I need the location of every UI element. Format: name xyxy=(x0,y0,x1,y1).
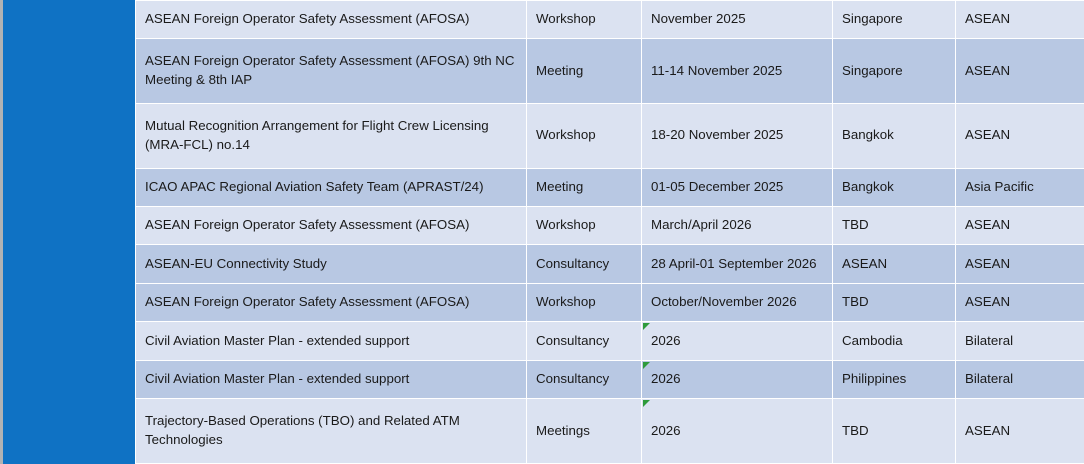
comment-flag-icon xyxy=(643,400,650,407)
cell-type: Consultancy xyxy=(527,245,642,283)
cell-activity: Civil Aviation Master Plan - extended su… xyxy=(136,322,527,360)
cell-text: November 2025 xyxy=(651,10,824,29)
cell-date: 11-14 November 2025 xyxy=(642,39,833,104)
left-blue-panel xyxy=(3,0,135,464)
cell-activity: ICAO APAC Regional Aviation Safety Team … xyxy=(136,168,527,206)
cell-activity: Trajectory-Based Operations (TBO) and Re… xyxy=(136,399,527,464)
cell-scope: ASEAN xyxy=(956,104,1084,169)
cell-text: Consultancy xyxy=(536,332,633,351)
cell-text: TBD xyxy=(842,422,947,441)
cell-text: Consultancy xyxy=(536,370,633,389)
cell-activity: Civil Aviation Master Plan - extended su… xyxy=(136,360,527,398)
cell-activity: ASEAN Foreign Operator Safety Assessment… xyxy=(136,39,527,104)
cell-venue: TBD xyxy=(833,283,956,321)
cell-text: ASEAN Foreign Operator Safety Assessment… xyxy=(145,293,518,312)
cell-text: Bangkok xyxy=(842,178,947,197)
table-row: Trajectory-Based Operations (TBO) and Re… xyxy=(136,399,1084,464)
cell-text: ASEAN xyxy=(965,422,1076,441)
cell-text: Bilateral xyxy=(965,332,1076,351)
cell-date: 18-20 November 2025 xyxy=(642,104,833,169)
cell-scope: Asia Pacific xyxy=(956,168,1084,206)
cell-activity: ASEAN Foreign Operator Safety Assessment… xyxy=(136,283,527,321)
cell-text: ASEAN xyxy=(965,62,1076,81)
cell-text: 01-05 December 2025 xyxy=(651,178,824,197)
cell-date: March/April 2026 xyxy=(642,207,833,245)
slide-canvas: ASEAN Foreign Operator Safety Assessment… xyxy=(0,0,1084,464)
cell-date: 2026 xyxy=(642,399,833,464)
cell-text: 2026 xyxy=(651,422,824,441)
cell-type: Workshop xyxy=(527,207,642,245)
table-row: Mutual Recognition Arrangement for Fligh… xyxy=(136,104,1084,169)
cell-text: ASEAN xyxy=(965,216,1076,235)
cell-venue: Singapore xyxy=(833,39,956,104)
comment-flag-icon xyxy=(643,323,650,330)
table-row: ASEAN Foreign Operator Safety Assessment… xyxy=(136,1,1084,39)
cell-date: 2026 xyxy=(642,360,833,398)
cell-type: Workshop xyxy=(527,1,642,39)
cell-venue: TBD xyxy=(833,399,956,464)
cell-activity: ASEAN Foreign Operator Safety Assessment… xyxy=(136,207,527,245)
cell-text: 2026 xyxy=(651,332,824,351)
cell-scope: Bilateral xyxy=(956,360,1084,398)
cell-type: Workshop xyxy=(527,104,642,169)
cell-scope: ASEAN xyxy=(956,1,1084,39)
cell-text: Workshop xyxy=(536,293,633,312)
cell-scope: ASEAN xyxy=(956,245,1084,283)
cell-activity: Mutual Recognition Arrangement for Fligh… xyxy=(136,104,527,169)
cell-text: Singapore xyxy=(842,10,947,29)
cell-text: Meeting xyxy=(536,178,633,197)
cell-date: 2026 xyxy=(642,322,833,360)
table-body: ASEAN Foreign Operator Safety Assessment… xyxy=(136,1,1084,464)
cell-text: 28 April-01 September 2026 xyxy=(651,255,824,274)
cell-text: March/April 2026 xyxy=(651,216,824,235)
table-row: Civil Aviation Master Plan - extended su… xyxy=(136,360,1084,398)
cell-text: 18-20 November 2025 xyxy=(651,126,824,145)
cell-scope: ASEAN xyxy=(956,399,1084,464)
cell-text: Meetings xyxy=(536,422,633,441)
cell-date: October/November 2026 xyxy=(642,283,833,321)
cell-text: Meeting xyxy=(536,62,633,81)
cell-text: ASEAN Foreign Operator Safety Assessment… xyxy=(145,216,518,235)
cell-text: ASEAN Foreign Operator Safety Assessment… xyxy=(145,10,518,29)
cell-activity: ASEAN Foreign Operator Safety Assessment… xyxy=(136,1,527,39)
cell-venue: Singapore xyxy=(833,1,956,39)
cell-text: ASEAN xyxy=(965,126,1076,145)
activity-schedule-table: ASEAN Foreign Operator Safety Assessment… xyxy=(135,0,1084,464)
cell-activity: ASEAN-EU Connectivity Study xyxy=(136,245,527,283)
cell-text: ASEAN Foreign Operator Safety Assessment… xyxy=(145,52,518,90)
cell-text: Philippines xyxy=(842,370,947,389)
cell-scope: ASEAN xyxy=(956,207,1084,245)
cell-text: ASEAN xyxy=(842,255,947,274)
table-row: ASEAN Foreign Operator Safety Assessment… xyxy=(136,283,1084,321)
cell-scope: ASEAN xyxy=(956,283,1084,321)
cell-text: 11-14 November 2025 xyxy=(651,62,824,81)
cell-text: Workshop xyxy=(536,126,633,145)
cell-scope: Bilateral xyxy=(956,322,1084,360)
cell-venue: Philippines xyxy=(833,360,956,398)
cell-venue: Bangkok xyxy=(833,104,956,169)
cell-text: Asia Pacific xyxy=(965,178,1076,197)
cell-date: November 2025 xyxy=(642,1,833,39)
cell-venue: Cambodia xyxy=(833,322,956,360)
cell-text: October/November 2026 xyxy=(651,293,824,312)
cell-text: Singapore xyxy=(842,62,947,81)
cell-text: ASEAN-EU Connectivity Study xyxy=(145,255,518,274)
cell-type: Meeting xyxy=(527,168,642,206)
cell-venue: TBD xyxy=(833,207,956,245)
cell-text: Civil Aviation Master Plan - extended su… xyxy=(145,370,518,389)
cell-text: Civil Aviation Master Plan - extended su… xyxy=(145,332,518,351)
cell-venue: Bangkok xyxy=(833,168,956,206)
cell-type: Consultancy xyxy=(527,360,642,398)
comment-flag-icon xyxy=(643,362,650,369)
cell-text: TBD xyxy=(842,293,947,312)
cell-text: 2026 xyxy=(651,370,824,389)
cell-text: ICAO APAC Regional Aviation Safety Team … xyxy=(145,178,518,197)
table-row: ASEAN Foreign Operator Safety Assessment… xyxy=(136,207,1084,245)
cell-text: Consultancy xyxy=(536,255,633,274)
cell-text: Mutual Recognition Arrangement for Fligh… xyxy=(145,117,518,155)
cell-type: Consultancy xyxy=(527,322,642,360)
table-row: ICAO APAC Regional Aviation Safety Team … xyxy=(136,168,1084,206)
table-row: ASEAN-EU Connectivity StudyConsultancy28… xyxy=(136,245,1084,283)
cell-text: Bangkok xyxy=(842,126,947,145)
cell-text: Trajectory-Based Operations (TBO) and Re… xyxy=(145,412,518,450)
cell-text: ASEAN xyxy=(965,10,1076,29)
cell-text: Workshop xyxy=(536,216,633,235)
cell-type: Meetings xyxy=(527,399,642,464)
cell-text: ASEAN xyxy=(965,255,1076,274)
cell-text: TBD xyxy=(842,216,947,235)
cell-type: Meeting xyxy=(527,39,642,104)
table-row: ASEAN Foreign Operator Safety Assessment… xyxy=(136,39,1084,104)
cell-text: ASEAN xyxy=(965,293,1076,312)
cell-date: 28 April-01 September 2026 xyxy=(642,245,833,283)
cell-type: Workshop xyxy=(527,283,642,321)
cell-text: Cambodia xyxy=(842,332,947,351)
cell-scope: ASEAN xyxy=(956,39,1084,104)
schedule-table-region: ASEAN Foreign Operator Safety Assessment… xyxy=(135,0,1084,464)
table-row: Civil Aviation Master Plan - extended su… xyxy=(136,322,1084,360)
cell-text: Workshop xyxy=(536,10,633,29)
cell-venue: ASEAN xyxy=(833,245,956,283)
cell-text: Bilateral xyxy=(965,370,1076,389)
cell-date: 01-05 December 2025 xyxy=(642,168,833,206)
